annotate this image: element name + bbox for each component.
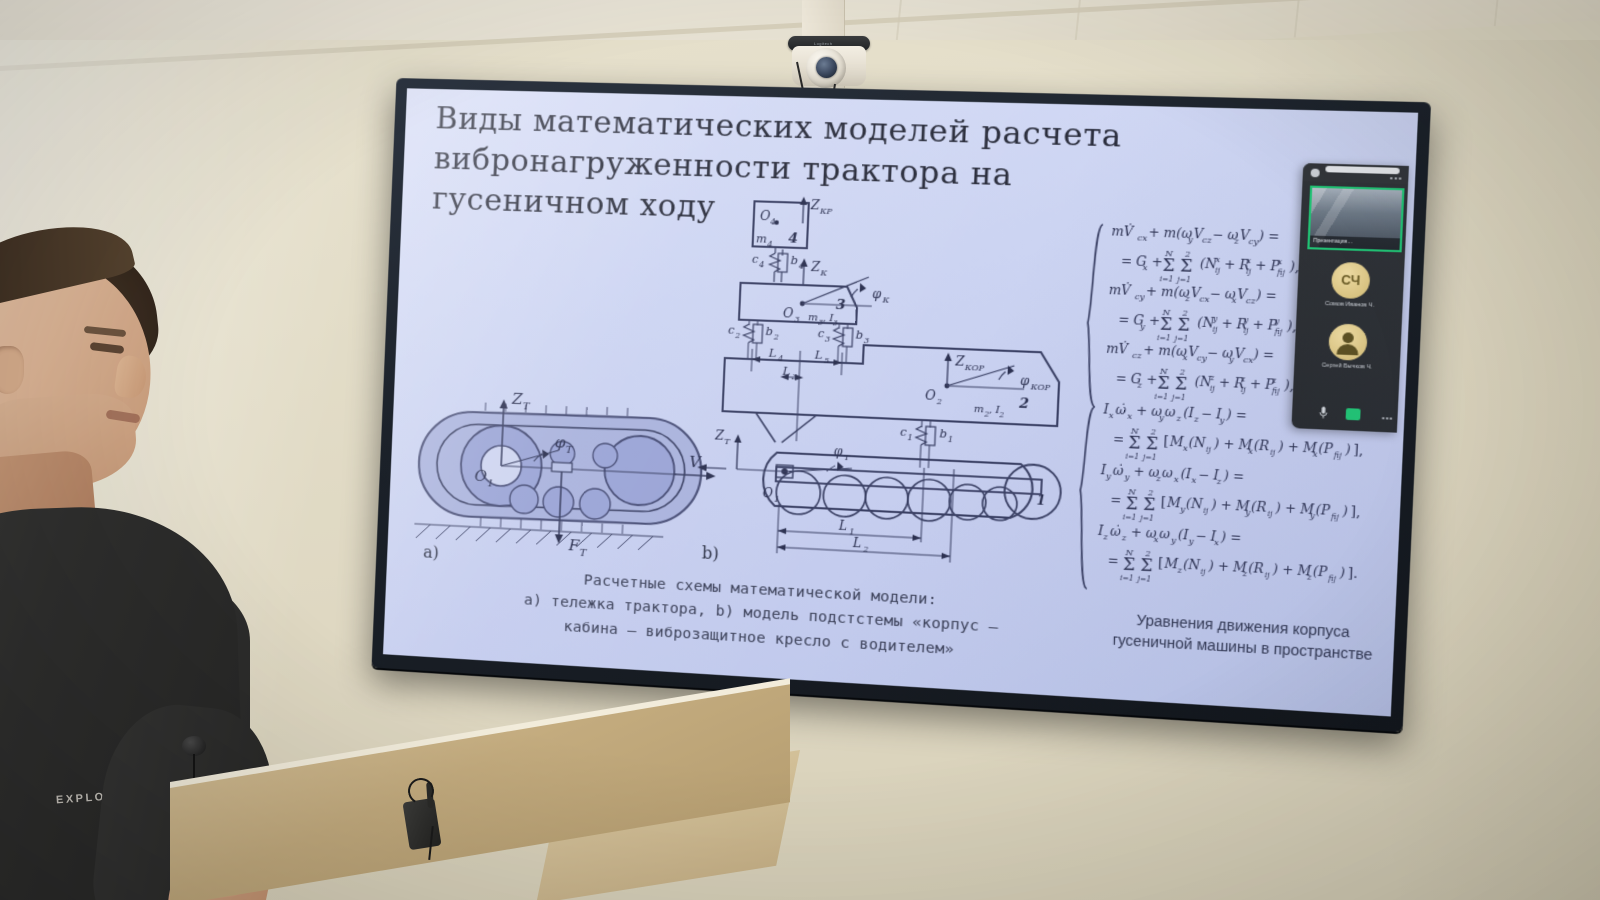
svg-text:(P: (P bbox=[1318, 441, 1334, 457]
svg-text:) =: ) = bbox=[1225, 407, 1247, 423]
svg-text:сz: сz bbox=[1132, 351, 1143, 361]
svg-text:z: z bbox=[1215, 476, 1222, 486]
svg-text:К: К bbox=[881, 295, 890, 305]
svg-text:1: 1 bbox=[1036, 493, 1046, 508]
video-panel-logo-icon bbox=[1311, 169, 1320, 178]
svg-text:b: b bbox=[765, 325, 773, 339]
svg-text:z: z bbox=[1193, 414, 1200, 424]
lecture-hall-photo: Logitech Виды математических моделей рас… bbox=[0, 0, 1600, 900]
svg-text:3: 3 bbox=[825, 334, 831, 344]
svg-text:O: O bbox=[760, 209, 771, 224]
svg-text:Σ: Σ bbox=[1143, 494, 1156, 515]
svg-text:y: y bbox=[1170, 535, 1177, 545]
svg-text:L: L bbox=[813, 348, 822, 362]
svg-text:x: x bbox=[1214, 538, 1220, 548]
svg-text:z: z bbox=[1121, 533, 1128, 543]
svg-text:T: T bbox=[579, 548, 588, 560]
svg-text:+ m(ω: + m(ω bbox=[1148, 225, 1192, 241]
svg-text:Σ: Σ bbox=[1122, 554, 1135, 575]
svg-text:z: z bbox=[1209, 374, 1215, 383]
svg-text:x: x bbox=[1174, 474, 1180, 484]
svg-text:КОР: КОР bbox=[1029, 382, 1051, 392]
participant-avatar-2-person-icon bbox=[1328, 323, 1368, 361]
svg-text:2: 2 bbox=[772, 332, 779, 342]
svg-text:ij: ij bbox=[1270, 448, 1276, 457]
svg-text:3: 3 bbox=[864, 336, 870, 346]
svg-text:): ) bbox=[1341, 504, 1348, 519]
svg-text:y: y bbox=[1212, 315, 1219, 324]
svg-text:3: 3 bbox=[833, 319, 839, 327]
svg-text:[: [ bbox=[1163, 434, 1169, 450]
svg-text:b: b bbox=[855, 328, 863, 342]
svg-text:i=1: i=1 bbox=[1159, 275, 1173, 284]
svg-text:4: 4 bbox=[777, 354, 784, 364]
diagram-b-body-cabin-seat: O4 m4 4 ZКР c4 b4 bbox=[714, 194, 1123, 575]
figure-label-a: a) bbox=[423, 542, 440, 562]
svg-text:j=1: j=1 bbox=[1141, 453, 1157, 462]
svg-text:m: m bbox=[756, 232, 767, 246]
svg-text:φ: φ bbox=[872, 287, 882, 302]
wall-display[interactable]: Виды математических моделей расчета вибр… bbox=[371, 78, 1431, 732]
svg-text:mV̇: mV̇ bbox=[1106, 341, 1130, 357]
svg-text:Σ: Σ bbox=[1174, 373, 1187, 394]
svg-text:y: y bbox=[1105, 471, 1112, 481]
svg-text:[: [ bbox=[1158, 556, 1164, 572]
diagram-a-tractor-bogie: ZT φT O1 FT V bbox=[409, 377, 732, 569]
svg-text:j=1: j=1 bbox=[1135, 575, 1151, 584]
svg-text:(I: (I bbox=[1180, 466, 1191, 481]
svg-text:φ: φ bbox=[554, 433, 566, 452]
svg-text:ij: ij bbox=[1267, 510, 1273, 519]
svg-text:1: 1 bbox=[907, 433, 913, 443]
svg-text:Σ: Σ bbox=[1177, 314, 1190, 335]
svg-text:сy: сy bbox=[1135, 292, 1146, 302]
svg-text:+ m(ω: + m(ω bbox=[1143, 343, 1187, 360]
svg-text:y: y bbox=[1139, 321, 1146, 331]
svg-text:4: 4 bbox=[766, 240, 773, 249]
svg-text:T: T bbox=[523, 401, 532, 413]
svg-text:y: y bbox=[1243, 316, 1250, 325]
svg-text:fij: fij bbox=[1273, 328, 1283, 337]
svg-text:1: 1 bbox=[487, 478, 494, 489]
participant-name-2: Сергей Бычков Ч. bbox=[1294, 361, 1400, 372]
svg-text:L: L bbox=[838, 518, 848, 533]
equations-caption: Уравнения движения корпуса гусеничной ма… bbox=[1082, 607, 1405, 667]
svg-text:ω̇: ω̇ bbox=[1115, 402, 1127, 417]
svg-text:Z: Z bbox=[810, 260, 821, 275]
svg-text:c: c bbox=[818, 327, 825, 341]
svg-text:Z: Z bbox=[954, 354, 965, 369]
svg-text:y: y bbox=[1218, 415, 1225, 425]
svg-text:z: z bbox=[1240, 375, 1246, 384]
svg-text:К: К bbox=[819, 268, 828, 278]
more-options-icon[interactable]: ••• bbox=[1382, 413, 1394, 423]
svg-text:y: y bbox=[1187, 536, 1194, 546]
svg-text:+: + bbox=[1151, 255, 1163, 270]
svg-text:z: z bbox=[1136, 380, 1143, 390]
svg-text:L: L bbox=[852, 536, 862, 551]
svg-text:Z: Z bbox=[714, 428, 725, 443]
participant-item-1[interactable]: СЧ Сомов Иванов Ч. bbox=[1297, 261, 1405, 310]
svg-text:ij: ij bbox=[1241, 386, 1247, 395]
svg-text:1: 1 bbox=[948, 435, 954, 445]
svg-text:ij: ij bbox=[1246, 267, 1252, 276]
svg-text:c: c bbox=[900, 425, 907, 439]
svg-text:(R: (R bbox=[1248, 561, 1264, 577]
svg-text:КР: КР bbox=[819, 206, 833, 216]
svg-text:i=1: i=1 bbox=[1125, 452, 1139, 461]
svg-text:ij: ij bbox=[1200, 568, 1206, 577]
svg-text:) =: ) = bbox=[1219, 529, 1241, 545]
svg-text:fij: fij bbox=[1271, 387, 1281, 396]
svg-text:ij: ij bbox=[1212, 325, 1218, 334]
svg-text:],: ], bbox=[1350, 504, 1361, 521]
svg-text:(I: (I bbox=[1183, 405, 1194, 420]
svg-text:Z: Z bbox=[809, 198, 820, 213]
svg-text:2: 2 bbox=[862, 544, 869, 554]
svg-text:(R: (R bbox=[1251, 499, 1267, 515]
microphone-icon[interactable] bbox=[1319, 406, 1329, 420]
svg-text:].: ]. bbox=[1347, 566, 1358, 583]
svg-text:=: = bbox=[1107, 553, 1119, 568]
svg-text:ω: ω bbox=[1159, 526, 1171, 541]
presentation-slide: Виды математических моделей расчета вибр… bbox=[383, 88, 1418, 716]
svg-text:c: c bbox=[728, 323, 735, 337]
svg-text:) =: ) = bbox=[1255, 288, 1277, 304]
svg-text:ω̇: ω̇ bbox=[1110, 524, 1122, 539]
svg-text:b: b bbox=[790, 254, 798, 268]
svg-text:3: 3 bbox=[836, 298, 846, 314]
svg-text:КОР: КОР bbox=[964, 363, 986, 373]
svg-text:4: 4 bbox=[758, 260, 765, 269]
screen-share-icon[interactable] bbox=[1346, 408, 1361, 420]
svg-text:ij: ij bbox=[1203, 506, 1209, 515]
svg-text:fij: fij bbox=[1276, 268, 1286, 277]
svg-text:T: T bbox=[844, 453, 851, 463]
svg-text:z: z bbox=[1175, 413, 1182, 423]
svg-text:fij: fij bbox=[1333, 451, 1343, 460]
svg-text:i=1: i=1 bbox=[1120, 574, 1134, 583]
video-panel-more-icon[interactable]: ••• bbox=[1390, 173, 1403, 183]
svg-text:mV̇: mV̇ bbox=[1109, 283, 1133, 299]
svg-text:],: ], bbox=[1353, 442, 1364, 458]
svg-text:z: z bbox=[1102, 532, 1109, 542]
svg-text:3: 3 bbox=[792, 372, 798, 381]
svg-text:) =: ) = bbox=[1252, 347, 1274, 363]
svg-text:=: = bbox=[1113, 432, 1125, 447]
svg-text:m: m bbox=[974, 404, 985, 416]
svg-text:2: 2 bbox=[1018, 396, 1030, 412]
svg-text:5: 5 bbox=[824, 356, 830, 366]
svg-text:x: x bbox=[1109, 411, 1115, 421]
svg-text:O: O bbox=[762, 486, 773, 501]
svg-text:j=1: j=1 bbox=[1138, 514, 1154, 523]
active-speaker-thumbnail[interactable]: Презентация… bbox=[1307, 186, 1404, 253]
svg-text:i=1: i=1 bbox=[1157, 334, 1171, 343]
figure-label-b: b) bbox=[701, 543, 719, 563]
svg-text:ω: ω bbox=[1164, 405, 1176, 420]
video-panel-controls[interactable]: ••• bbox=[1292, 401, 1399, 429]
svg-text:fij: fij bbox=[1330, 513, 1340, 522]
svg-text:Σ: Σ bbox=[1125, 493, 1138, 514]
svg-text:mV̇: mV̇ bbox=[1111, 224, 1135, 239]
svg-text:) =: ) = bbox=[1222, 468, 1244, 484]
svg-text:(P: (P bbox=[1313, 564, 1329, 580]
svg-text:ij: ij bbox=[1210, 384, 1216, 393]
conference-camera: Logitech bbox=[786, 0, 886, 100]
svg-text:): ) bbox=[1338, 565, 1345, 580]
svg-text:L: L bbox=[767, 346, 776, 360]
svg-text:y: y bbox=[1123, 472, 1130, 482]
svg-text:fij: fij bbox=[1327, 574, 1337, 583]
svg-text:Σ: Σ bbox=[1145, 433, 1158, 454]
svg-text:4: 4 bbox=[788, 231, 798, 247]
svg-text:ij: ij bbox=[1265, 571, 1271, 580]
svg-text:(P: (P bbox=[1315, 502, 1331, 518]
svg-text:(R: (R bbox=[1254, 438, 1270, 454]
svg-text:x: x bbox=[1142, 263, 1148, 273]
svg-text:+ m(ω: + m(ω bbox=[1146, 284, 1190, 300]
svg-text:m: m bbox=[808, 312, 818, 324]
svg-text:ij: ij bbox=[1206, 445, 1212, 454]
svg-text:): ) bbox=[1344, 442, 1351, 457]
video-panel-title-bar bbox=[1325, 166, 1399, 174]
svg-text:O: O bbox=[783, 306, 794, 321]
lavalier-microphone-head bbox=[182, 736, 206, 756]
svg-text:+: + bbox=[1146, 372, 1158, 387]
svg-text:2: 2 bbox=[935, 397, 942, 407]
svg-text:+: + bbox=[1149, 313, 1161, 328]
svg-text:x: x bbox=[1191, 475, 1197, 485]
svg-text:T: T bbox=[724, 437, 731, 447]
svg-text:ij: ij bbox=[1243, 326, 1249, 335]
video-call-panel[interactable]: ••• Презентация… СЧ Сомов Иванов Ч. Серг… bbox=[1291, 163, 1409, 433]
svg-text:ij: ij bbox=[1215, 266, 1221, 275]
svg-text:i=1: i=1 bbox=[1123, 513, 1137, 522]
svg-text:F: F bbox=[567, 536, 580, 555]
svg-text:1: 1 bbox=[774, 495, 780, 505]
svg-text:x: x bbox=[1127, 411, 1133, 421]
svg-text:b: b bbox=[939, 427, 947, 441]
svg-text:ω̇: ω̇ bbox=[1112, 463, 1124, 478]
svg-text:4: 4 bbox=[769, 217, 776, 226]
svg-text:O: O bbox=[474, 466, 487, 485]
svg-text:Σ: Σ bbox=[1180, 256, 1193, 277]
svg-text:j=1: j=1 bbox=[1170, 393, 1186, 402]
svg-text:φ: φ bbox=[1020, 373, 1030, 388]
svg-text:i=1: i=1 bbox=[1154, 393, 1168, 402]
svg-text:(N: (N bbox=[1188, 435, 1206, 451]
svg-text:Σ: Σ bbox=[1140, 555, 1153, 576]
svg-text:x: x bbox=[1277, 258, 1282, 267]
svg-text:ω: ω bbox=[1162, 465, 1174, 480]
svg-text:j=1: j=1 bbox=[1175, 275, 1191, 284]
svg-text:(N: (N bbox=[1186, 496, 1204, 512]
video-panel-header: ••• bbox=[1303, 163, 1409, 184]
participant-item-2[interactable]: Сергей Бычков Ч. bbox=[1294, 322, 1402, 372]
svg-text:Σ: Σ bbox=[1157, 373, 1170, 394]
svg-text:Z: Z bbox=[511, 390, 524, 409]
svg-text:x: x bbox=[1246, 257, 1251, 266]
svg-text:(N: (N bbox=[1183, 557, 1201, 573]
svg-text:y: y bbox=[1274, 317, 1281, 326]
svg-text:Σ: Σ bbox=[1159, 314, 1172, 335]
svg-text:сx: сx bbox=[1137, 233, 1148, 243]
svg-text:2: 2 bbox=[734, 331, 741, 340]
svg-text:2: 2 bbox=[998, 411, 1005, 420]
svg-text:Σ: Σ bbox=[1128, 432, 1141, 453]
svg-text:O: O bbox=[925, 388, 936, 403]
svg-text:) =: ) = bbox=[1257, 228, 1279, 244]
svg-text:L: L bbox=[781, 364, 790, 378]
svg-text:(I: (I bbox=[1178, 527, 1189, 542]
display-screen[interactable]: Виды математических моделей расчета вибр… bbox=[383, 88, 1418, 716]
thumbnail-name-label: Презентация… bbox=[1310, 235, 1400, 250]
participant-name-1: Сомов Иванов Ч. bbox=[1297, 300, 1403, 310]
svg-text:3: 3 bbox=[794, 315, 800, 324]
svg-text:j=1: j=1 bbox=[1172, 334, 1188, 343]
svg-text:Σ: Σ bbox=[1162, 255, 1175, 275]
camera-lens-icon bbox=[816, 57, 837, 78]
svg-text:φ: φ bbox=[833, 444, 843, 459]
svg-text:=: = bbox=[1110, 492, 1122, 507]
svg-text:c: c bbox=[752, 252, 759, 266]
svg-text:z: z bbox=[1271, 376, 1277, 385]
svg-text:x: x bbox=[1215, 256, 1220, 265]
slide-caption: Расчетные схемы математической модели: a… bbox=[420, 560, 1111, 672]
svg-text:[: [ bbox=[1160, 495, 1166, 511]
participant-avatar-1: СЧ bbox=[1331, 262, 1371, 299]
